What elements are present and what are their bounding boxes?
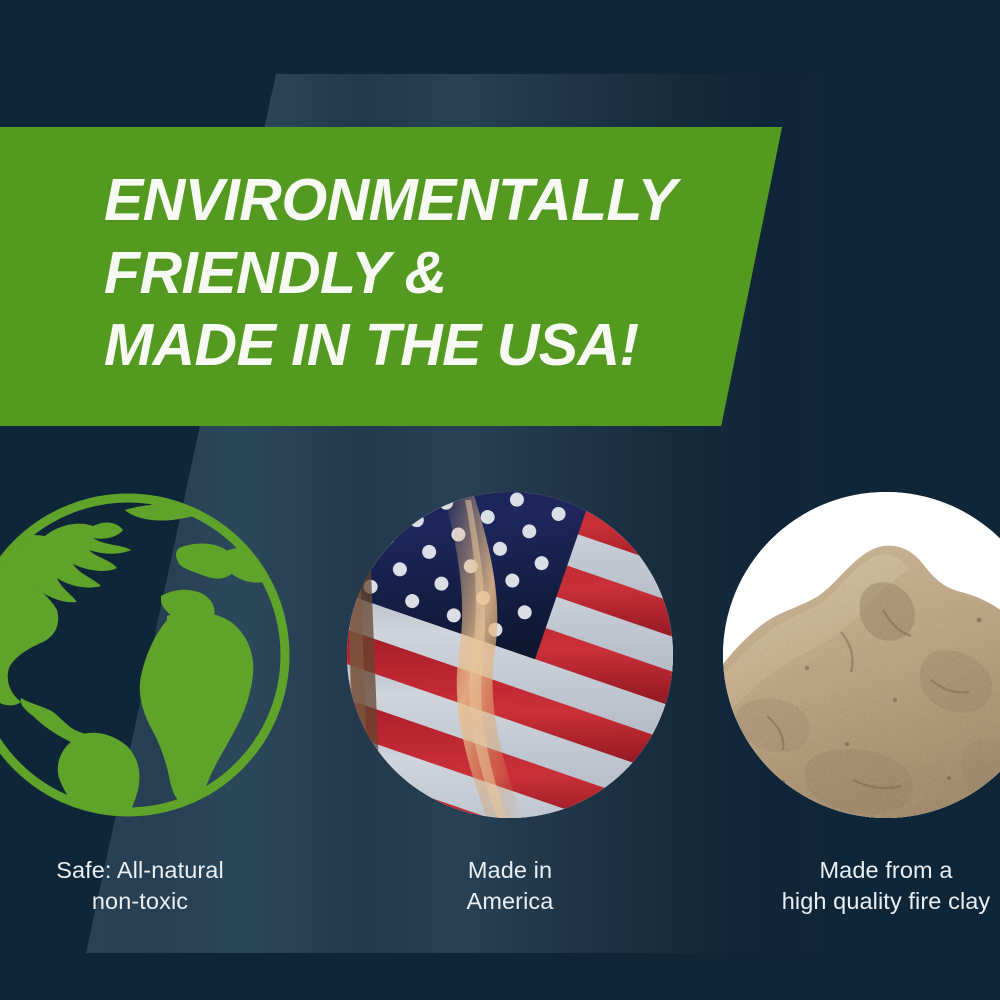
feature-caption-made-in-america: Made in America xyxy=(347,855,673,918)
globe-icon xyxy=(0,492,291,818)
american-flag-photo xyxy=(347,492,673,818)
feature-caption-fire-clay: Made from a high quality fire clay xyxy=(723,855,1000,918)
fire-clay-photo xyxy=(723,492,1000,818)
feature-caption-safe-all-natural: Safe: All-natural non-toxic xyxy=(0,855,286,918)
headline-text: ENVIRONMENTALLY FRIENDLY & MADE IN THE U… xyxy=(104,164,784,382)
infographic-canvas: ENVIRONMENTALLY FRIENDLY & MADE IN THE U… xyxy=(0,0,1000,1000)
